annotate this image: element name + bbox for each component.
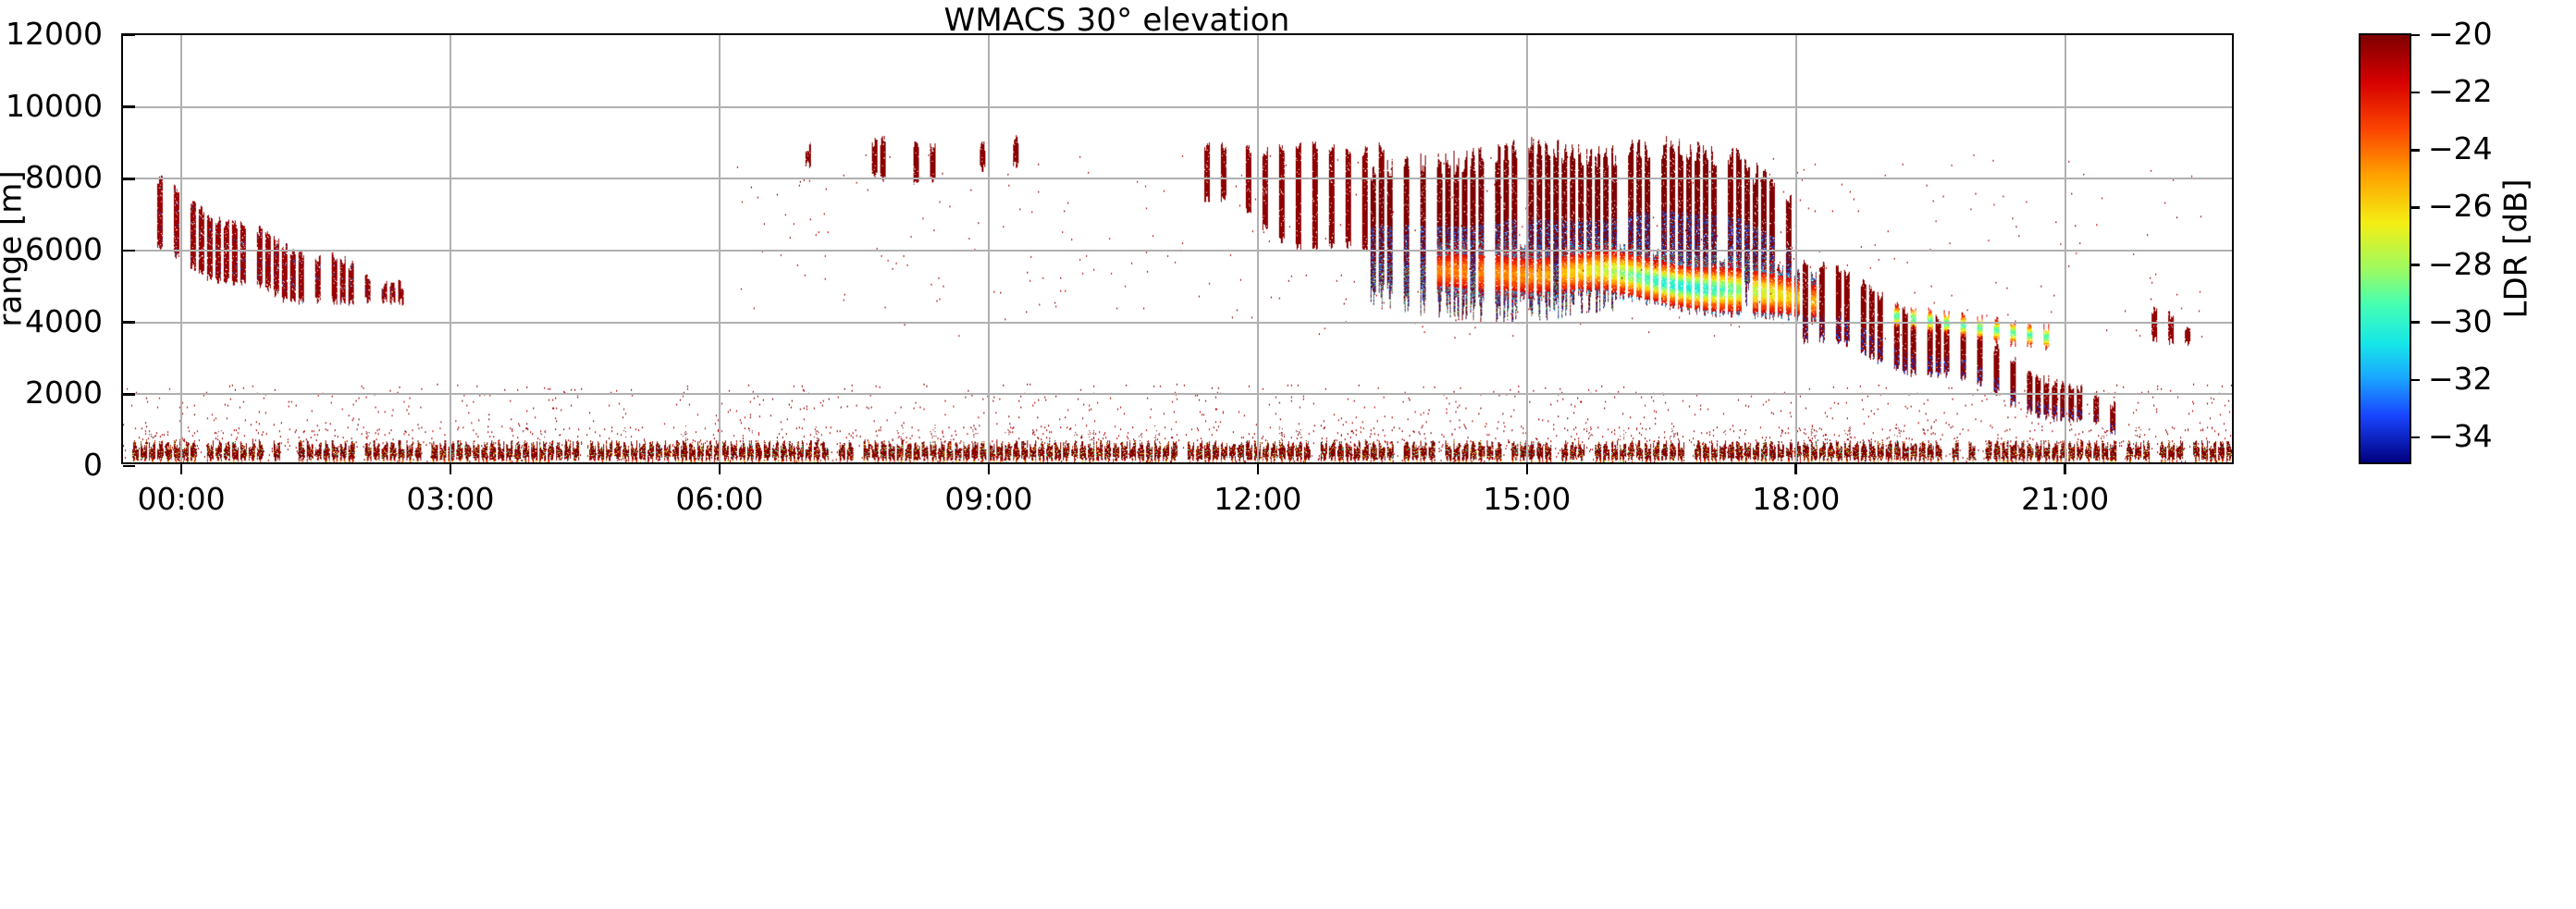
gridline-horizontal — [123, 178, 2232, 179]
colorbar-label-text: LDR [dB] — [2497, 179, 2534, 319]
colorbar-label: LDR [dB] — [2497, 33, 2534, 464]
gridline-horizontal — [123, 106, 2232, 108]
colorbar-tick-label: −20 — [2428, 16, 2493, 52]
y-tick-label: 12000 — [6, 16, 103, 52]
y-tick-mark — [123, 393, 135, 396]
figure-canvas: WMACS 30° elevation range [m] 0200040006… — [0, 0, 2576, 909]
x-tick-label: 03:00 — [406, 481, 494, 517]
colorbar-tick-mark — [2410, 206, 2420, 209]
x-tick-mark — [1794, 462, 1797, 474]
gridline-vertical — [988, 35, 990, 462]
y-tick-label: 6000 — [25, 231, 103, 267]
y-tick-mark — [123, 321, 135, 324]
gridline-horizontal — [123, 322, 2232, 324]
y-tick-mark — [123, 178, 135, 180]
x-tick-mark — [180, 462, 183, 474]
gridline-vertical — [450, 35, 451, 462]
x-tick-label: 18:00 — [1752, 481, 1840, 517]
colorbar-tick-mark — [2410, 149, 2420, 152]
y-tick-mark — [123, 105, 135, 108]
colorbar-tick-mark — [2410, 264, 2420, 266]
y-tick-label: 2000 — [25, 375, 103, 411]
x-tick-label: 21:00 — [2021, 481, 2109, 517]
colorbar-tick-mark — [2410, 92, 2420, 94]
colorbar-tick-mark — [2410, 379, 2420, 382]
gridline-vertical — [180, 35, 182, 462]
x-tick-mark — [719, 462, 721, 474]
colorbar-tick-label: −26 — [2428, 188, 2493, 224]
x-tick-label: 12:00 — [1214, 481, 1301, 517]
colorbar-tick-label: −32 — [2428, 361, 2493, 397]
colorbar-tick-label: −24 — [2428, 130, 2493, 166]
x-tick-mark — [1526, 462, 1529, 474]
y-tick-label: 0 — [83, 447, 103, 483]
colorbar-gradient — [2360, 35, 2410, 462]
x-tick-mark — [450, 462, 452, 474]
x-tick-mark — [1257, 462, 1260, 474]
y-tick-mark — [123, 465, 135, 468]
gridline-vertical — [2064, 35, 2066, 462]
y-tick-mark — [123, 34, 135, 37]
gridline-vertical — [1526, 35, 1528, 462]
x-tick-mark — [2064, 462, 2066, 474]
colorbar-tick-mark — [2410, 321, 2420, 324]
colorbar-tick-label: −22 — [2428, 73, 2493, 109]
colorbar-tick-mark — [2410, 436, 2420, 439]
x-tick-mark — [988, 462, 991, 474]
x-tick-label: 15:00 — [1483, 481, 1571, 517]
gridline-horizontal — [123, 393, 2232, 395]
colorbar-tick-mark — [2410, 34, 2420, 37]
colorbar-tick-label: −34 — [2428, 418, 2493, 454]
colorbar-tick-label: −28 — [2428, 246, 2493, 282]
gridline-vertical — [1795, 35, 1797, 462]
x-tick-label: 09:00 — [944, 481, 1032, 517]
gridline-vertical — [719, 35, 721, 462]
plot-axes: 020004000600080001000012000 00:0003:0006… — [121, 33, 2234, 464]
gridline-vertical — [1257, 35, 1259, 462]
y-tick-label: 8000 — [25, 159, 103, 195]
y-tick-label: 10000 — [6, 88, 103, 124]
y-tick-mark — [123, 250, 135, 252]
y-tick-label: 4000 — [25, 303, 103, 339]
colorbar-tick-label: −30 — [2428, 303, 2493, 339]
x-tick-label: 06:00 — [675, 481, 763, 517]
gridline-horizontal — [123, 250, 2232, 252]
x-tick-label: 00:00 — [137, 481, 225, 517]
colorbar: −20−22−24−26−28−30−32−34 — [2359, 33, 2411, 464]
